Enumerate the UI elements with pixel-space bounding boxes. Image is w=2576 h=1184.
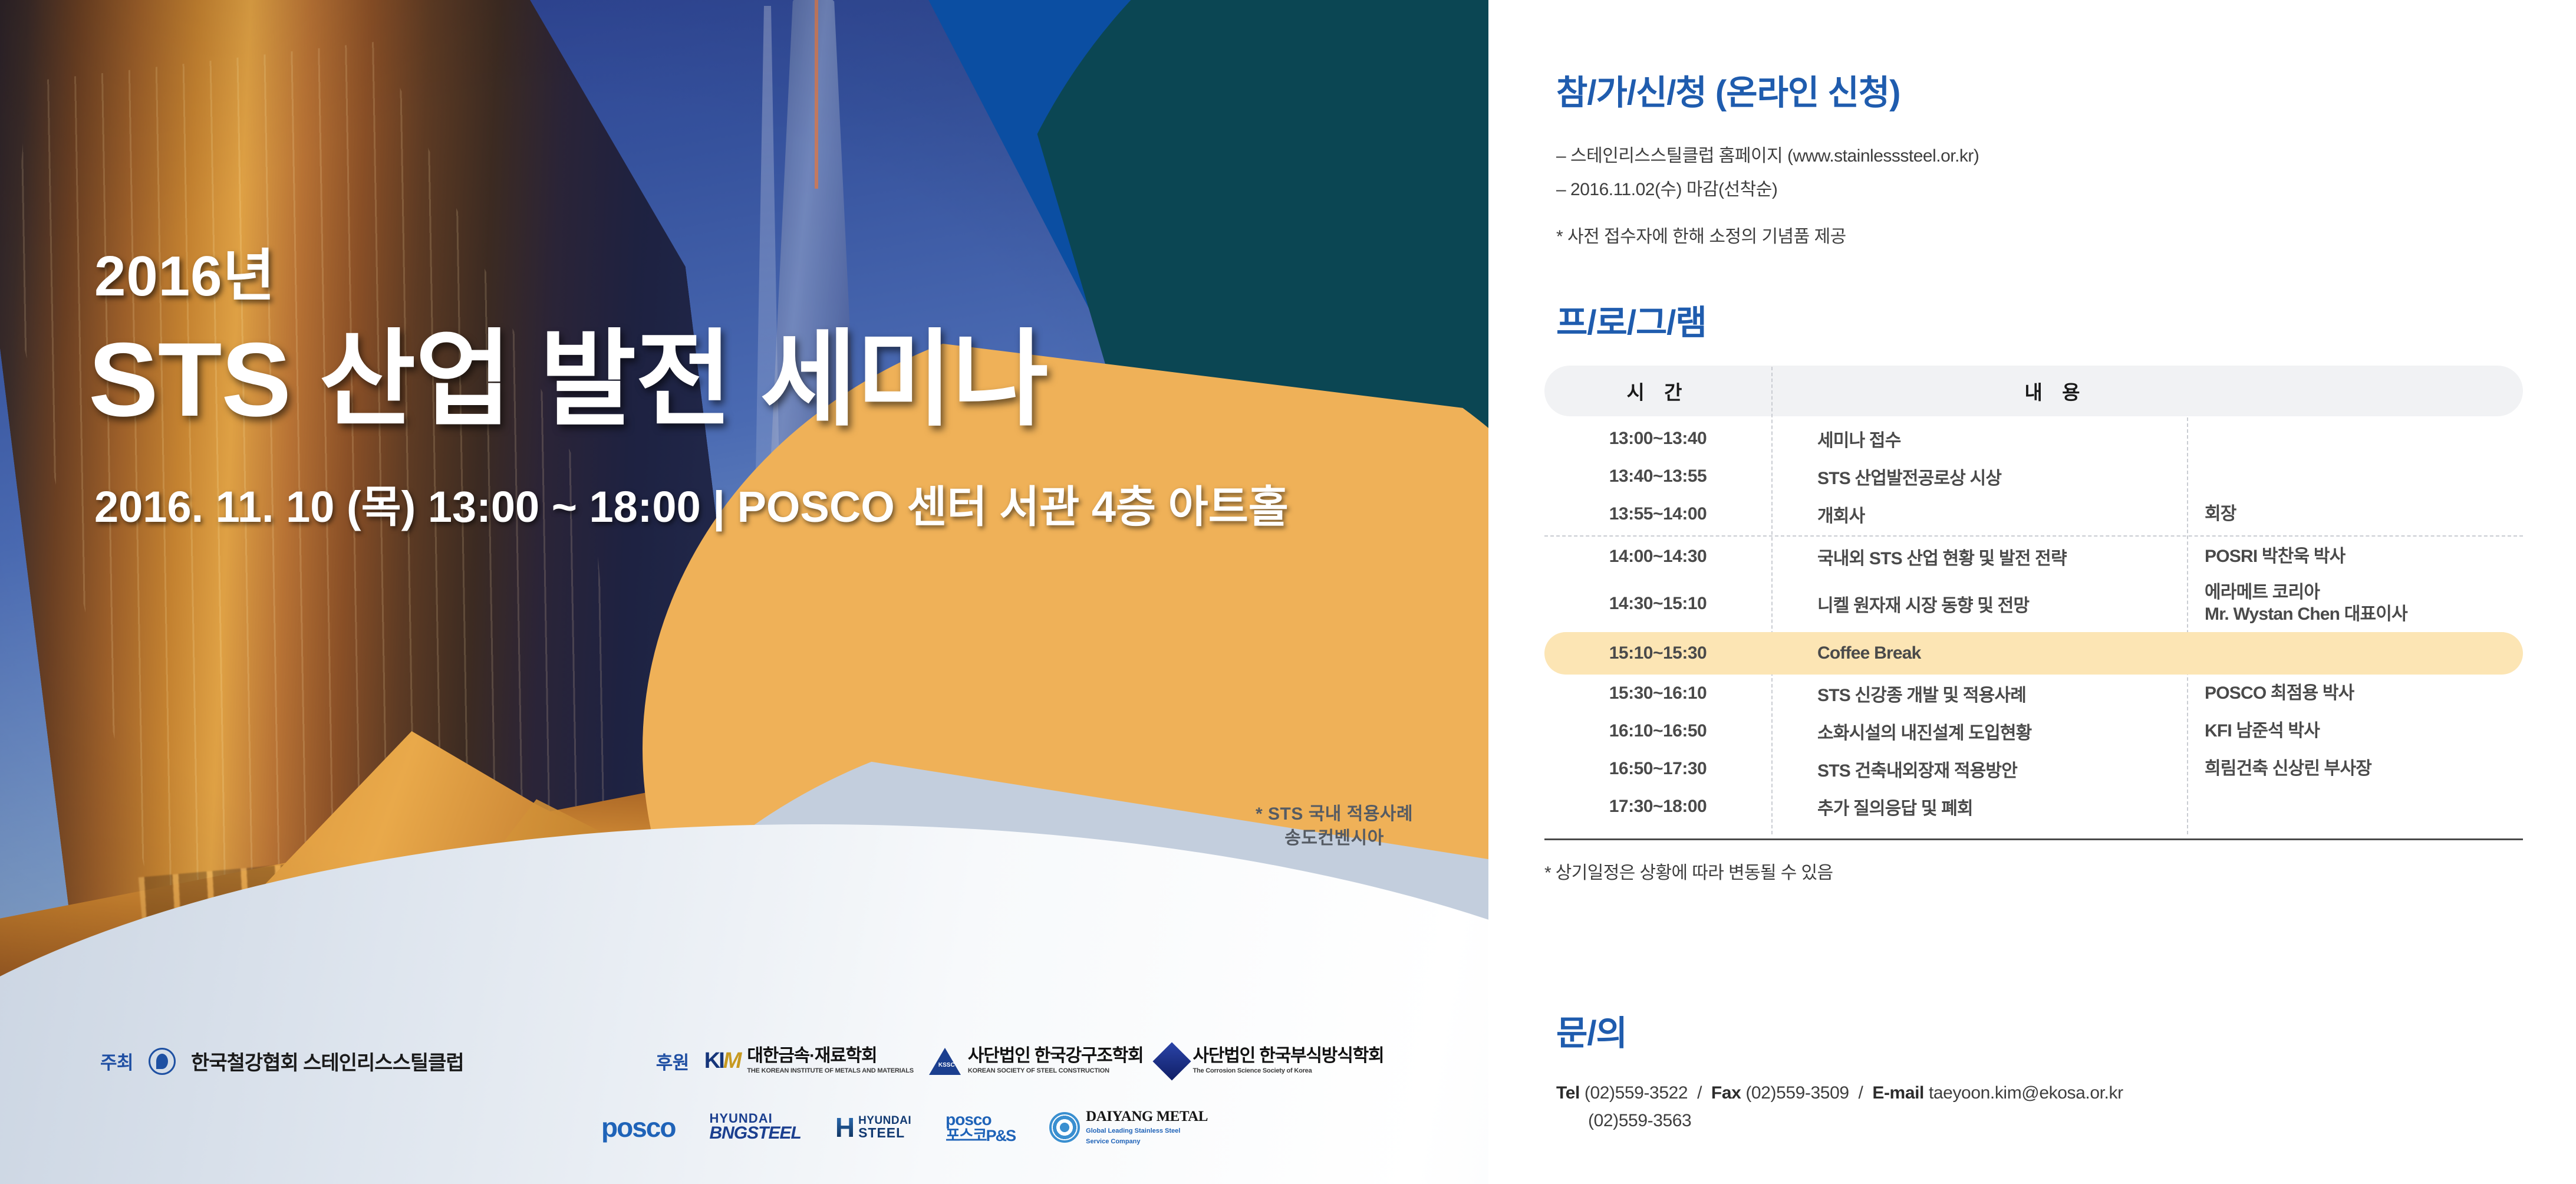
bng-bottom: BNGSTEEL xyxy=(709,1123,801,1143)
row-time: 14:00~14:30 xyxy=(1544,547,1771,567)
email-label: E-mail xyxy=(1872,1083,1924,1103)
row-speaker: KFI 남준석 박사 xyxy=(2187,721,2523,742)
photo-credit: * STS 국내 적용사례 송도컨벤시아 xyxy=(1256,802,1413,851)
cssk-name-en: The Corrosion Science Society of Korea xyxy=(1193,1067,1312,1074)
poster-title: STS 산업 발전 세미나 xyxy=(88,295,1048,446)
host-name: 한국철강협회 스테인리스스틸클럽 xyxy=(191,1047,464,1076)
apply-line-deadline: – 2016.11.02(수) 마감(선착순) xyxy=(1556,173,1979,206)
program-heading: 프/로/그/램 xyxy=(1556,295,1707,344)
table-bottom-rule xyxy=(1544,838,2523,840)
kssc-name-kr: 사단법인 한국강구조학회 xyxy=(968,1046,1144,1065)
apply-heading: 참/가/신/청 (온라인 신청) xyxy=(1556,65,1979,114)
fax-value: (02)559-3509 xyxy=(1745,1083,1849,1103)
apply-line-homepage: – 스테인리스스틸클럽 홈페이지 (www.stainlesssteel.or.… xyxy=(1556,139,1979,173)
pns-top: posco xyxy=(946,1110,991,1129)
row-topic: Coffee Break xyxy=(1771,643,2187,663)
contact-line-primary: Tel (02)559-3522 / Fax (02)559-3509 / E-… xyxy=(1556,1080,2123,1107)
logo-bng-steel: HYUNDAI BNGSTEEL xyxy=(709,1113,801,1142)
email-value[interactable]: taeyoon.kim@ekosa.or.kr xyxy=(1929,1083,2123,1103)
daiyang-tagline-1: Global Leading Stainless Steel xyxy=(1086,1127,1180,1134)
contact-lines: Tel (02)559-3522 / Fax (02)559-3509 / E-… xyxy=(1556,1080,2123,1134)
table-row: 16:50~17:30STS 건축내외장재 적용방안희림건축 신상린 부사장 xyxy=(1544,750,2523,788)
table-row: 17:30~18:00추가 질의응답 및 폐회 xyxy=(1544,788,2523,825)
row-topic: 국내외 STS 산업 현황 및 발전 전략 xyxy=(1771,544,2187,570)
logo-hyundai-steel: H HYUNDAI STEEL xyxy=(835,1116,911,1140)
table-row: 15:30~16:10STS 신강종 개발 및 적용사례POSCO 최점용 박사 xyxy=(1544,675,2523,712)
program-table-body: 13:00~13:40세미나 접수13:40~13:55STS 산업발전공로상 … xyxy=(1544,416,2523,840)
row-speaker: POSRI 박찬욱 박사 xyxy=(2187,546,2523,568)
row-time: 16:50~17:30 xyxy=(1544,759,1771,779)
row-group-divider xyxy=(1544,535,2523,537)
row-speaker: POSCO 최점용 박사 xyxy=(2187,683,2523,705)
program-table: 시 간 내 용 13:00~13:40세미나 접수13:40~13:55STS … xyxy=(1544,366,2523,884)
photo-credit-line-1: * STS 국내 적용사례 xyxy=(1256,802,1413,826)
photo-credit-line-2: 송도컨벤시아 xyxy=(1256,826,1413,850)
pns-bottom: 포스코P&S xyxy=(946,1127,1015,1144)
kssc-name-en: KOREAN SOCIETY OF STEEL CONSTRUCTION xyxy=(968,1067,1109,1074)
kssc-triangle-icon: KSSC xyxy=(929,1048,961,1075)
cssk-name-kr: 사단법인 한국부식방식학회 xyxy=(1193,1046,1383,1065)
row-time: 16:10~16:50 xyxy=(1544,721,1771,741)
program-table-header: 시 간 내 용 xyxy=(1544,366,2523,416)
hyundai-bottom: STEEL xyxy=(858,1125,905,1140)
kim-name-en: THE KOREAN INSTITUTE OF METALS AND MATER… xyxy=(747,1067,914,1074)
contact-section: 문/의 Tel (02)559-3522 / Fax (02)559-3509 … xyxy=(1556,1005,2123,1134)
apply-note: * 사전 접수자에 한해 소정의 기념품 제공 xyxy=(1556,222,1979,248)
poster-page: 2016년 STS 산업 발전 세미나 2016. 11. 10 (목) 13:… xyxy=(0,0,2576,1184)
apply-lines: – 스테인리스스틸클럽 홈페이지 (www.stainlesssteel.or.… xyxy=(1556,139,1979,206)
table-row: 13:55~14:00개회사회장 xyxy=(1544,495,2523,533)
column-header-time: 시 간 xyxy=(1544,377,1771,405)
contact-heading: 문/의 xyxy=(1556,1005,2123,1055)
row-speaker: 에라메트 코리아Mr. Wystan Chen 대표이사 xyxy=(2187,582,2523,625)
poster-image-panel: 2016년 STS 산업 발전 세미나 2016. 11. 10 (목) 13:… xyxy=(0,0,1488,1184)
row-topic: 니켈 원자재 시장 동향 및 전망 xyxy=(1771,591,2187,617)
sponsor-logo-kim: KIM 대한금속·재료학회 THE KOREAN INSTITUTE OF ME… xyxy=(704,1047,914,1076)
poster-subtitle: 2016. 11. 10 (목) 13:00 ~ 18:00 | POSCO 센… xyxy=(94,472,1289,535)
row-time: 13:40~13:55 xyxy=(1544,466,1771,486)
row-time: 14:30~15:10 xyxy=(1544,594,1771,614)
sponsor-logo-cssk: 사단법인 한국부식방식학회 The Corrosion Science Soci… xyxy=(1158,1047,1383,1076)
program-rows: 13:00~13:40세미나 접수13:40~13:55STS 산업발전공로상 … xyxy=(1544,420,2523,825)
table-row: 16:10~16:50소화시설의 내진설계 도입현황KFI 남준석 박사 xyxy=(1544,712,2523,750)
contact-sep-1: / xyxy=(1697,1083,1702,1103)
table-row: 15:10~15:30Coffee Break xyxy=(1544,632,2523,675)
row-topic: STS 신강종 개발 및 적용사례 xyxy=(1771,680,2187,706)
sponsor-label: 후원 xyxy=(656,1048,689,1074)
cssk-diamond-icon xyxy=(1153,1042,1191,1080)
contact-line-secondary: (02)559-3563 xyxy=(1556,1107,2123,1135)
table-row: 14:30~15:10니켈 원자재 시장 동향 및 전망에라메트 코리아Mr. … xyxy=(1544,575,2523,632)
host-label: 주최 xyxy=(100,1048,133,1074)
row-topic: 소화시설의 내진설계 도입현황 xyxy=(1771,718,2187,744)
row-topic: STS 건축내외장재 적용방안 xyxy=(1771,756,2187,782)
row-speaker: 희림건축 신상린 부사장 xyxy=(2187,758,2523,780)
table-row: 13:00~13:40세미나 접수 xyxy=(1544,420,2523,458)
row-topic: STS 산업발전공로상 시상 xyxy=(1771,463,2187,489)
info-panel: 참/가/신/청 (온라인 신청) – 스테인리스스틸클럽 홈페이지 (www.s… xyxy=(1488,0,2576,1184)
row-topic: 세미나 접수 xyxy=(1771,426,2187,452)
tel-value: (02)559-3522 xyxy=(1585,1083,1688,1103)
sponsor-logo-kssc: KSSC 사단법인 한국강구조학회 KOREAN SOCIETY OF STEE… xyxy=(929,1047,1144,1076)
row-time: 15:30~16:10 xyxy=(1544,683,1771,703)
tel-label: Tel xyxy=(1556,1083,1580,1103)
column-header-body: 내 용 xyxy=(1771,377,2523,405)
contact-sep-2: / xyxy=(1859,1083,1863,1103)
logo-daiyang-metal: DAIYANG METAL Global Leading Stainless S… xyxy=(1049,1109,1208,1146)
table-row: 14:00~14:30국내외 STS 산업 현황 및 발전 전략POSRI 박찬… xyxy=(1544,538,2523,575)
table-row: 13:40~13:55STS 산업발전공로상 시상 xyxy=(1544,458,2523,495)
daiyang-target-icon xyxy=(1049,1112,1080,1143)
daiyang-name: DAIYANG METAL xyxy=(1086,1109,1208,1124)
host-sponsor-row: 주최 한국철강협회 스테인리스스틸클럽 후원 KIM 대한금속·재료학회 THE… xyxy=(100,1047,1383,1076)
program-section: 프/로/그/램 xyxy=(1556,295,1707,344)
daiyang-tagline-2: Service Company xyxy=(1086,1138,1140,1145)
logo-posco-pns: posco 포스코P&S xyxy=(946,1111,1015,1144)
row-topic: 개회사 xyxy=(1771,501,2187,527)
row-time: 13:55~14:00 xyxy=(1544,504,1771,524)
row-time: 15:10~15:30 xyxy=(1544,643,1771,663)
row-topic: 추가 질의응답 및 폐회 xyxy=(1771,794,2187,820)
ksa-seal-icon xyxy=(149,1048,176,1075)
program-footnote: * 상기일정은 상황에 따라 변동될 수 있음 xyxy=(1544,858,2523,884)
row-time: 17:30~18:00 xyxy=(1544,797,1771,817)
kim-name-kr: 대한금속·재료학회 xyxy=(747,1046,877,1065)
row-time: 13:00~13:40 xyxy=(1544,429,1771,449)
corporate-sponsor-row: posco HYUNDAI BNGSTEEL H HYUNDAI STEEL p… xyxy=(601,1109,1208,1146)
logo-posco: posco xyxy=(601,1111,675,1143)
kim-mark-icon: KIM xyxy=(704,1048,740,1074)
fax-label: Fax xyxy=(1711,1083,1741,1103)
hyundai-h-icon: H xyxy=(835,1117,855,1139)
apply-section: 참/가/신/청 (온라인 신청) – 스테인리스스틸클럽 홈페이지 (www.s… xyxy=(1556,65,1979,248)
row-speaker: 회장 xyxy=(2187,504,2523,525)
